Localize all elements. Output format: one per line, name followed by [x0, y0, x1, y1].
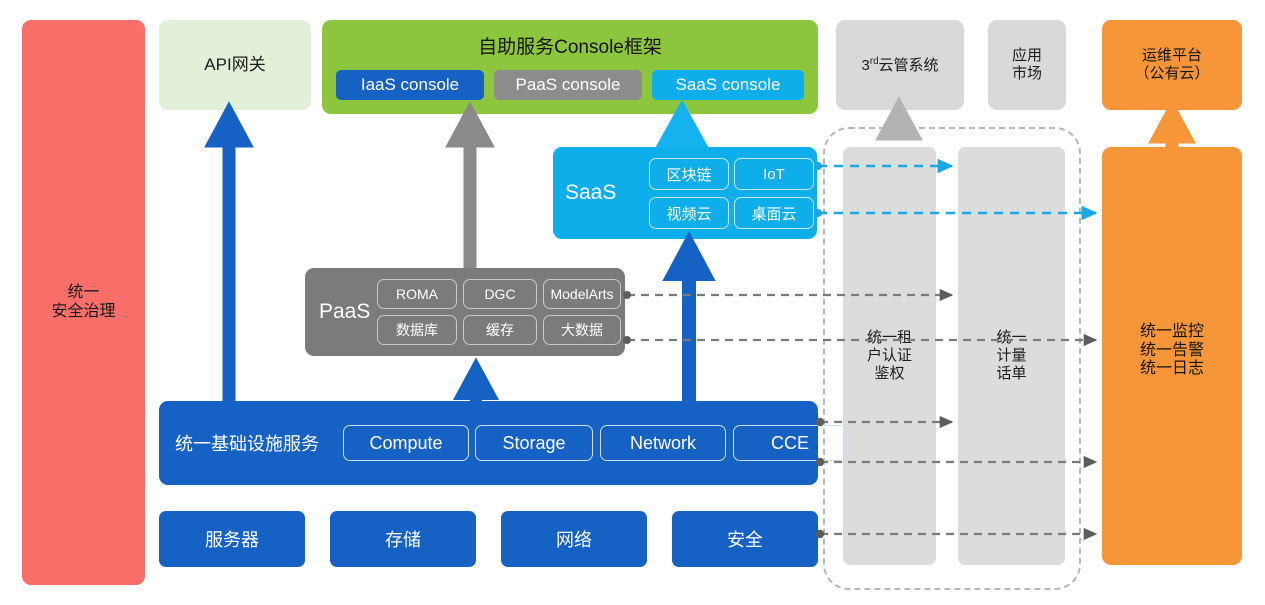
iaas-chip-compute-label: Compute — [369, 433, 442, 454]
third-party-cloud-mgmt-label: 3rd云管系统 — [861, 56, 938, 75]
paas-chip-dgc-label: DGC — [484, 286, 515, 302]
architecture-diagram: 统一 安全治理 API网关 自助服务Console框架 IaaS console… — [0, 0, 1265, 605]
iaas-layer[interactable]: 统一基础设施服务 Compute Storage Network CCE — [159, 401, 818, 485]
saas-chip-desktop-cloud-label: 桌面云 — [751, 203, 796, 224]
arrow-paas-to-console — [456, 115, 484, 268]
saas-chip-iot[interactable]: IoT — [734, 158, 814, 190]
console-frame-title: 自助服务Console框架 — [322, 32, 818, 59]
shared-column-metering-billing[interactable]: 统一 计量 话单 — [958, 147, 1065, 565]
iaas-chip-storage-label: Storage — [502, 433, 565, 454]
api-gateway-label: API网关 — [204, 55, 265, 75]
console-chip-saas[interactable]: SaaS console — [652, 70, 804, 100]
third-party-prefix: 3 — [861, 57, 869, 74]
saas-layer-name: SaaS — [565, 181, 616, 205]
paas-chip-bigdata[interactable]: 大数据 — [543, 315, 621, 345]
saas-chip-video-cloud-label: 视频云 — [666, 203, 711, 224]
hardware-card-storage-label: 存储 — [385, 526, 421, 552]
hardware-card-security[interactable]: 安全 — [672, 511, 818, 567]
hardware-card-network[interactable]: 网络 — [501, 511, 647, 567]
ops-platform-public-cloud-card[interactable]: 运维平台 （公有云） — [1102, 20, 1242, 110]
hardware-card-server[interactable]: 服务器 — [159, 511, 305, 567]
paas-layer[interactable]: PaaS ROMA DGC ModelArts 数据库 缓存 大数据 — [305, 268, 625, 356]
self-service-console-frame[interactable]: 自助服务Console框架 IaaS console PaaS console … — [322, 20, 818, 114]
app-market-label: 应用 市场 — [1012, 47, 1042, 82]
third-party-cloud-mgmt-card[interactable]: 3rd云管系统 — [836, 20, 964, 110]
unified-security-governance-band[interactable]: 统一 安全治理 — [22, 20, 145, 585]
iaas-chip-network-label: Network — [630, 433, 696, 454]
arrow-ops-center-to-ops-platform — [1159, 113, 1185, 147]
console-chip-iaas-label: IaaS console — [361, 75, 459, 95]
unified-security-governance-label: 统一 安全治理 — [51, 284, 115, 322]
ops-platform-public-cloud-label: 运维平台 （公有云） — [1134, 47, 1209, 82]
hardware-card-security-label: 安全 — [727, 526, 763, 552]
shared-column-tenant-auth[interactable]: 统一租 户认证 鉴权 — [843, 147, 936, 565]
hardware-card-server-label: 服务器 — [205, 526, 259, 552]
third-party-superscript: rd — [870, 56, 879, 67]
iaas-layer-name: 统一基础设施服务 — [175, 430, 319, 456]
paas-chip-modelarts-label: ModelArts — [550, 286, 613, 302]
saas-chip-blockchain-label: 区块链 — [666, 164, 711, 185]
iaas-chip-network[interactable]: Network — [600, 425, 726, 461]
paas-chip-cache-label: 缓存 — [486, 320, 514, 340]
shared-column-metering-billing-label: 统一 计量 话单 — [996, 329, 1026, 382]
paas-chip-dgc[interactable]: DGC — [463, 279, 537, 309]
api-gateway-card[interactable]: API网关 — [159, 20, 311, 110]
saas-chip-iot-label: IoT — [763, 166, 785, 183]
paas-chip-roma-label: ROMA — [396, 286, 438, 302]
console-chip-saas-label: SaaS console — [676, 75, 781, 95]
third-party-suffix: 云管系统 — [879, 57, 939, 74]
paas-chip-roma[interactable]: ROMA — [377, 279, 457, 309]
hardware-card-storage[interactable]: 存储 — [330, 511, 476, 567]
saas-chip-blockchain[interactable]: 区块链 — [649, 158, 729, 190]
paas-chip-database[interactable]: 数据库 — [377, 315, 457, 345]
console-chip-iaas[interactable]: IaaS console — [336, 70, 484, 100]
hardware-card-network-label: 网络 — [556, 526, 592, 552]
paas-layer-name: PaaS — [319, 300, 370, 324]
arrow-saas-to-console — [667, 114, 697, 147]
app-market-card[interactable]: 应用 市场 — [988, 20, 1066, 110]
console-chip-paas-label: PaaS console — [516, 75, 621, 95]
arrow-iaas-to-paas — [463, 370, 489, 401]
paas-chip-database-label: 数据库 — [396, 320, 438, 340]
shared-column-tenant-auth-label: 统一租 户认证 鉴权 — [867, 329, 912, 382]
iaas-chip-cce[interactable]: CCE — [733, 425, 847, 461]
iaas-chip-compute[interactable]: Compute — [343, 425, 469, 461]
paas-chip-modelarts[interactable]: ModelArts — [543, 279, 621, 309]
paas-chip-bigdata-label: 大数据 — [561, 320, 603, 340]
arrow-iaas-to-saas — [674, 246, 704, 401]
unified-ops-center-label: 统一监控 统一告警 统一日志 — [1140, 323, 1204, 380]
saas-chip-video-cloud[interactable]: 视频云 — [649, 197, 729, 229]
arrow-iaas-to-api-gateway — [215, 115, 243, 401]
console-chip-paas[interactable]: PaaS console — [494, 70, 642, 100]
saas-chip-desktop-cloud[interactable]: 桌面云 — [734, 197, 814, 229]
paas-chip-cache[interactable]: 缓存 — [463, 315, 537, 345]
iaas-chip-cce-label: CCE — [771, 433, 809, 454]
iaas-chip-storage[interactable]: Storage — [475, 425, 593, 461]
unified-ops-center-card[interactable]: 统一监控 统一告警 统一日志 — [1102, 147, 1242, 565]
saas-layer[interactable]: SaaS 区块链 IoT 视频云 桌面云 — [553, 147, 817, 239]
